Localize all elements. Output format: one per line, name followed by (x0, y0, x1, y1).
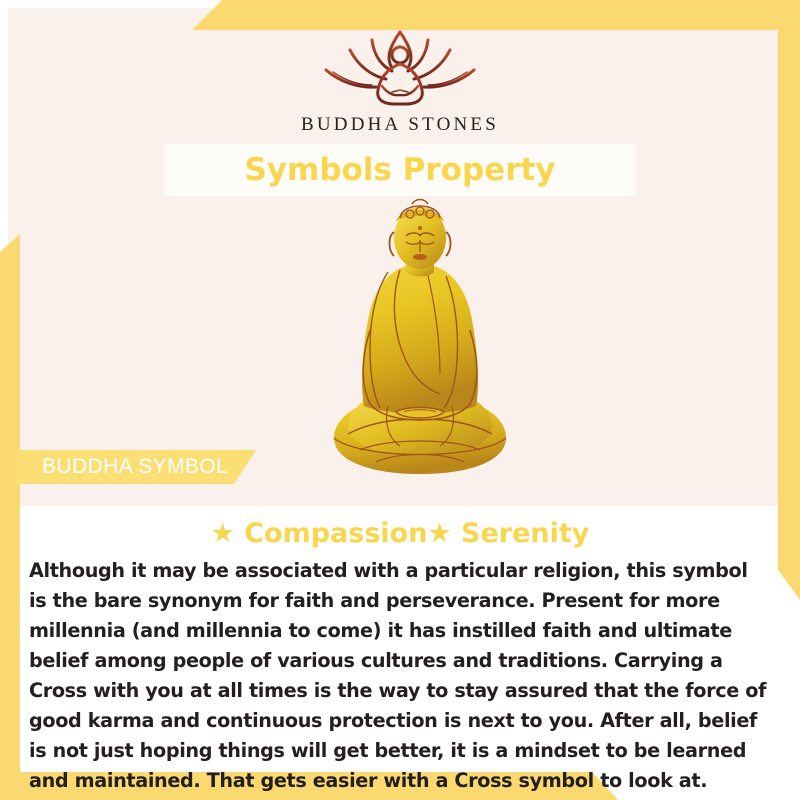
lotus-meditation-icon (0, 24, 800, 110)
ribbon-label: BUDDHA SYMBOL (16, 455, 228, 479)
yellow-frame-left (0, 234, 20, 800)
buddha-symbol-ribbon: BUDDHA SYMBOL (16, 450, 256, 484)
description-paragraph: Although it may be associated with a par… (29, 556, 771, 796)
title-banner: Symbols Property (164, 144, 636, 196)
golden-seated-buddha-statue-icon (300, 198, 540, 496)
page-title: Symbols Property (244, 152, 555, 188)
poster-canvas: BUDDHA STONES Symbols Property (0, 0, 800, 800)
attributes-subtitle: ★ Compassion★ Serenity (0, 518, 800, 549)
brand-logo: BUDDHA STONES (0, 24, 800, 136)
brand-name: BUDDHA STONES (0, 114, 800, 136)
